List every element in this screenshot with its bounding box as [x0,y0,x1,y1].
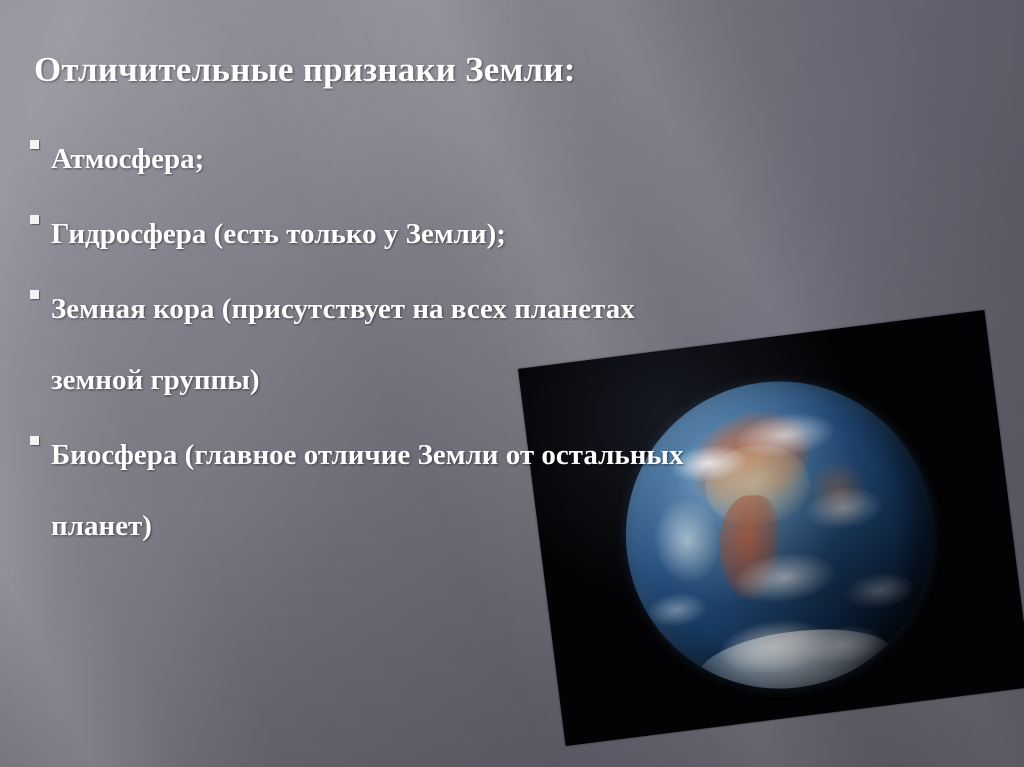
page-title: Отличительные признаки Земли: [34,50,576,90]
list-item-label: Гидросфера (есть только у Земли); [51,199,990,270]
bullet-list: Атмосфера; Гидросфера (есть только у Зем… [30,124,990,562]
slide-content: Отличительные признаки Земли: Атмосфера;… [0,0,1024,767]
list-item: Биосфера (главное отличие Земли от остал… [30,420,990,562]
square-bullet-icon [30,290,39,299]
list-item: Гидросфера (есть только у Земли); [30,199,990,270]
list-item-label: Атмосфера; [51,124,990,195]
list-item: Атмосфера; [30,124,990,195]
square-bullet-icon [30,140,39,149]
presentation-slide: Отличительные признаки Земли: Атмосфера;… [0,0,1024,767]
list-item: Земная кора (присутствует на всех планет… [30,274,990,416]
list-item-label: Земная кора (присутствует на всех планет… [51,274,990,416]
list-item-label: Биосфера (главное отличие Земли от остал… [51,420,990,562]
square-bullet-icon [30,436,39,445]
square-bullet-icon [30,215,39,224]
